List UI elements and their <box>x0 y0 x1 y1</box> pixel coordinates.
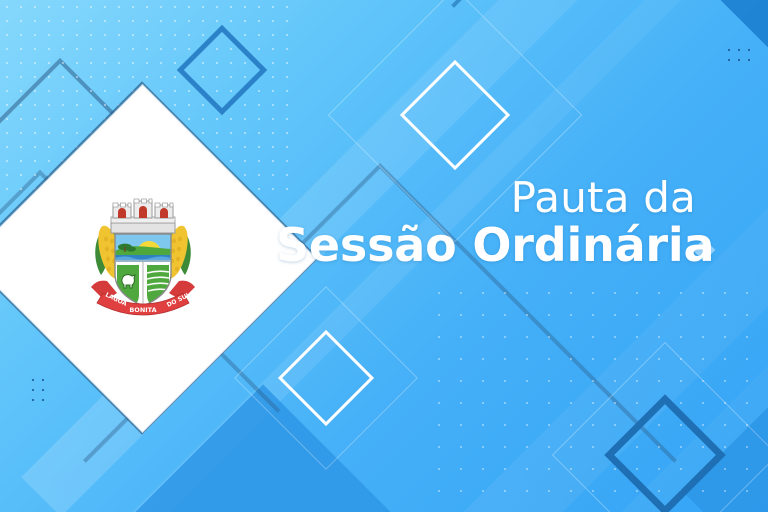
diamond-outline <box>552 342 768 512</box>
diamond-outline <box>177 25 268 116</box>
dot-grid-pattern <box>428 282 768 512</box>
background-wedge <box>683 407 768 512</box>
chevron-outline <box>451 0 768 189</box>
emblem-container: LAGOA BONITA DO SUL <box>20 136 265 381</box>
diamond-outline <box>278 330 374 426</box>
coat-of-arms-icon: LAGOA BONITA DO SUL <box>73 189 213 329</box>
ribbon-text-center: BONITA <box>129 306 156 314</box>
background-wedge <box>720 0 768 48</box>
diamond-outline <box>400 60 510 170</box>
diagonal-band <box>270 85 768 512</box>
banner-pauta-sessao-ordinaria: LAGOA BONITA DO SUL Pauta da Sessão Ordi… <box>0 0 768 512</box>
dot-cluster <box>724 45 756 67</box>
title-line-2: Sessão Ordinária <box>276 221 696 270</box>
diamond-outline <box>604 394 726 512</box>
banner-title: Pauta da Sessão Ordinária <box>276 176 696 269</box>
title-line-1: Pauta da <box>276 176 696 221</box>
